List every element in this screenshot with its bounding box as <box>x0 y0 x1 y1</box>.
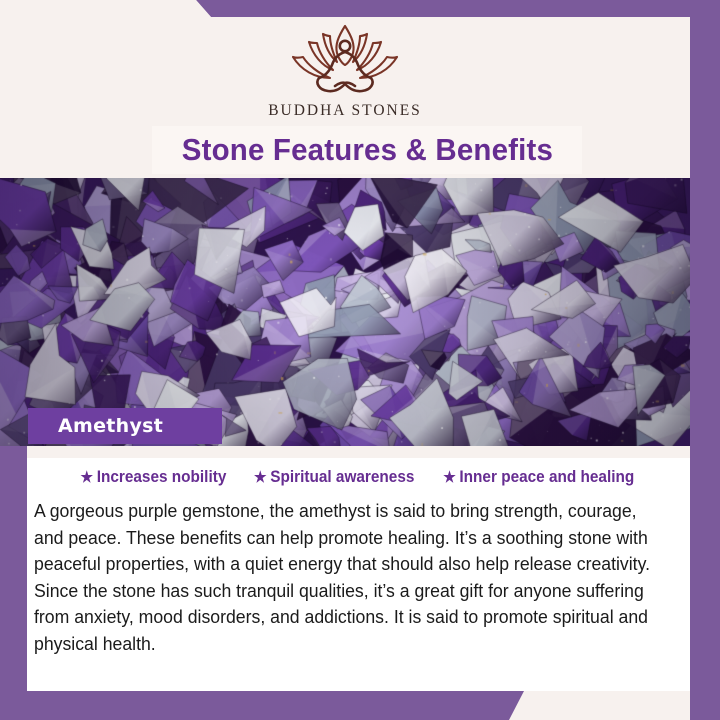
benefit-label-2: Inner peace and healing <box>460 468 635 487</box>
benefit-label-1: Spiritual awareness <box>270 468 414 487</box>
frame-right-bar <box>690 0 720 720</box>
brand-name: BUDDHA STONES <box>268 102 422 120</box>
description-card: ★ Increases nobility ★ Spiritual awarene… <box>27 446 690 691</box>
frame-bottom-bar <box>0 691 720 720</box>
amethyst-crystal-cluster-image <box>0 178 690 446</box>
card-top-strip <box>27 446 690 458</box>
infographic-canvas: BUDDHA STONES Stone Features & Benefits … <box>0 0 720 720</box>
star-icon: ★ <box>444 470 457 485</box>
benefit-item-0: ★ Increases nobility <box>81 468 227 487</box>
page-title-band: Stone Features & Benefits <box>152 126 582 174</box>
benefit-item-1: ★ Spiritual awareness <box>254 468 414 487</box>
benefits-row: ★ Increases nobility ★ Spiritual awarene… <box>27 468 690 487</box>
hero-image <box>0 178 690 446</box>
page-title: Stone Features & Benefits <box>181 132 552 168</box>
stone-description-text: A gorgeous purple gemstone, the amethyst… <box>34 498 650 657</box>
lotus-meditation-icon <box>275 20 415 98</box>
stone-name-label: Amethyst <box>28 415 163 437</box>
header-panel: BUDDHA STONES Stone Features & Benefits <box>0 0 690 178</box>
star-icon: ★ <box>254 470 267 485</box>
stone-name-badge: Amethyst <box>28 408 222 444</box>
benefit-label-0: Increases nobility <box>97 468 227 487</box>
frame-left-bar <box>0 412 27 720</box>
benefit-item-2: ★ Inner peace and healing <box>444 468 635 487</box>
brand-logo: BUDDHA STONES <box>0 20 690 120</box>
star-icon: ★ <box>81 470 94 485</box>
